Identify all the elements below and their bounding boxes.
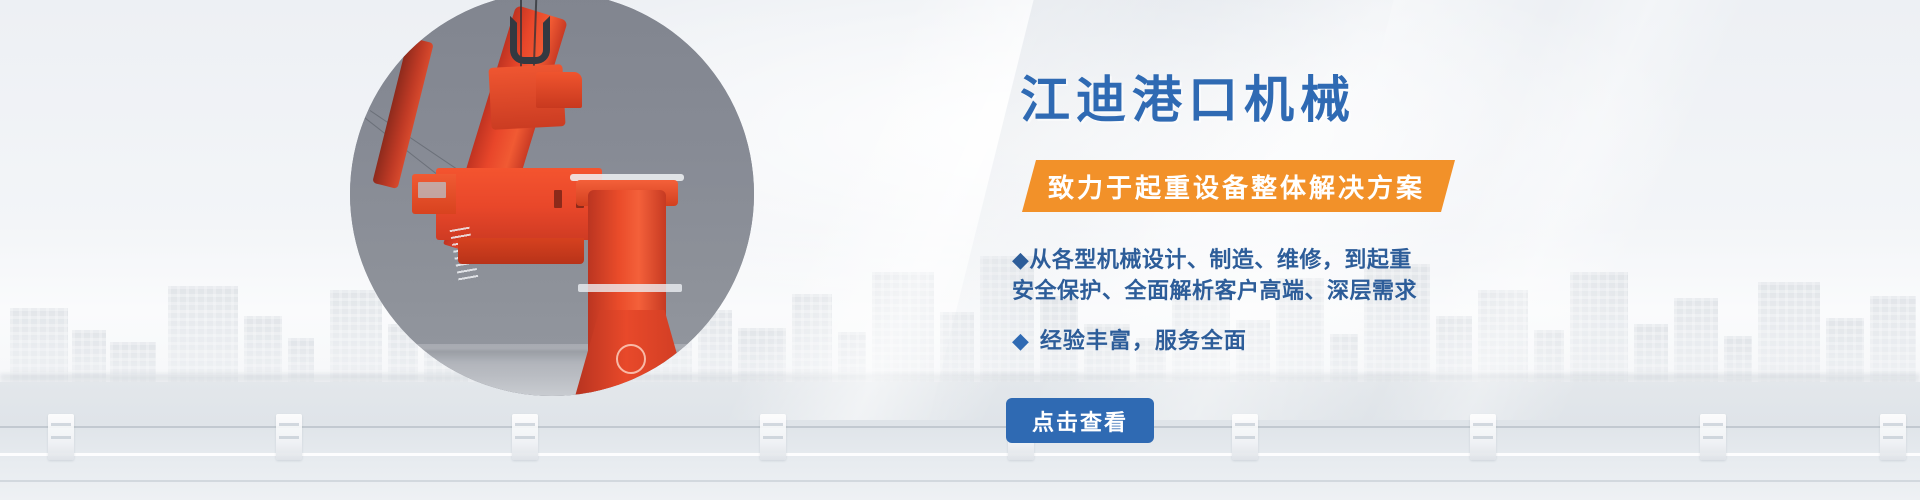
description-line-2: 安全保护、全面解析客户高端、深层需求 bbox=[1012, 275, 1512, 306]
photo-shoreline bbox=[350, 350, 754, 362]
banner-headline: 江迪港口机械 bbox=[1020, 60, 1356, 132]
crane-hook bbox=[510, 16, 550, 64]
diamond-bullet-icon: ◆ bbox=[1012, 328, 1030, 353]
description-block: ◆从各型机械设计、制造、维修，到起重 安全保护、全面解析客户高端、深层需求 bbox=[1012, 244, 1512, 306]
description-line-1: ◆从各型机械设计、制造、维修，到起重 bbox=[1012, 244, 1512, 275]
promo-banner: 江迪港口机械 致力于起重设备整体解决方案 ◆从各型机械设计、制造、维修，到起重 … bbox=[0, 0, 1920, 500]
crane-photo-circle bbox=[350, 0, 754, 396]
feature-text: 经验丰富，服务全面 bbox=[1040, 328, 1247, 353]
view-details-button[interactable]: 点击查看 bbox=[1006, 398, 1154, 443]
tagline-ribbon: 致力于起重设备整体解决方案 bbox=[1022, 160, 1455, 212]
feature-line: ◆经验丰富，服务全面 bbox=[1012, 323, 1247, 355]
banner-content: 江迪港口机械 致力于起重设备整体解决方案 ◆从各型机械设计、制造、维修，到起重 … bbox=[1000, 0, 1760, 500]
operator-cab bbox=[412, 174, 456, 214]
